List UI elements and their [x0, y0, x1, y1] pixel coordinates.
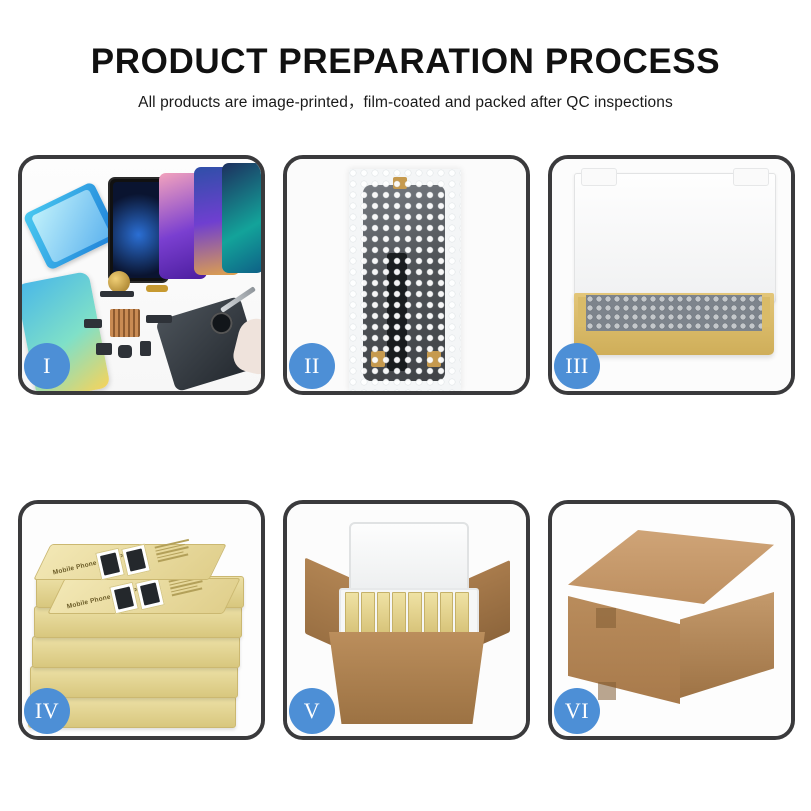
process-steps-grid: I II III	[18, 155, 795, 740]
gold-box-row-3	[32, 636, 240, 668]
blue-screen-film	[22, 181, 119, 271]
bubble-wrap-bag	[349, 169, 461, 391]
teal-phone-display	[222, 163, 261, 273]
step-6-image: VI	[552, 504, 791, 736]
step-badge-4: IV	[24, 688, 70, 734]
step-badge-3: III	[554, 343, 600, 389]
carton-side-face	[680, 592, 774, 698]
gold-boxes-inside	[345, 594, 469, 638]
gold-flex-part	[146, 285, 168, 292]
header: PRODUCT PREPARATION PROCESS All products…	[0, 0, 811, 112]
step-badge-1: I	[24, 343, 70, 389]
small-part-strip	[100, 291, 134, 297]
carton-front-face	[568, 596, 680, 704]
step-panel-1[interactable]: I	[18, 155, 265, 395]
tape-strip-upper	[596, 608, 616, 628]
step-panel-3[interactable]: III	[548, 155, 795, 395]
camera-ring-part	[108, 271, 130, 293]
small-part-e	[146, 315, 172, 323]
step-badge-2: II	[289, 343, 335, 389]
small-part-b	[118, 345, 132, 358]
step-2-image: II	[287, 159, 526, 391]
step-panel-4[interactable]: Mobile Phone Spare Parts Mobile Phone Sp…	[18, 500, 265, 740]
step-badge-6: VI	[554, 688, 600, 734]
step-5-image: V	[287, 504, 526, 736]
small-part-a	[96, 343, 112, 355]
foam-lid	[349, 522, 469, 598]
step-3-image: III	[552, 159, 791, 391]
bubble-texture	[349, 169, 461, 391]
step-panel-6[interactable]: VI	[548, 500, 795, 740]
copper-grid-part	[110, 309, 140, 337]
step-badge-5: V	[289, 688, 335, 734]
small-part-c	[140, 341, 151, 356]
step-panel-5[interactable]: V	[283, 500, 530, 740]
carton-top-face	[568, 530, 774, 604]
carton-body	[329, 632, 485, 724]
step-1-image: I	[22, 159, 261, 391]
small-part-d	[84, 319, 102, 328]
page-title: PRODUCT PREPARATION PROCESS	[0, 44, 811, 81]
white-box-lid	[574, 173, 776, 303]
tape-strip-lower	[598, 682, 616, 700]
step-panel-2[interactable]: II	[283, 155, 530, 395]
bubble-wrapped-contents	[586, 295, 762, 331]
page-subtitle: All products are image-printed，film-coat…	[0, 90, 811, 112]
step-4-image: Mobile Phone Spare Parts Mobile Phone Sp…	[22, 504, 261, 736]
